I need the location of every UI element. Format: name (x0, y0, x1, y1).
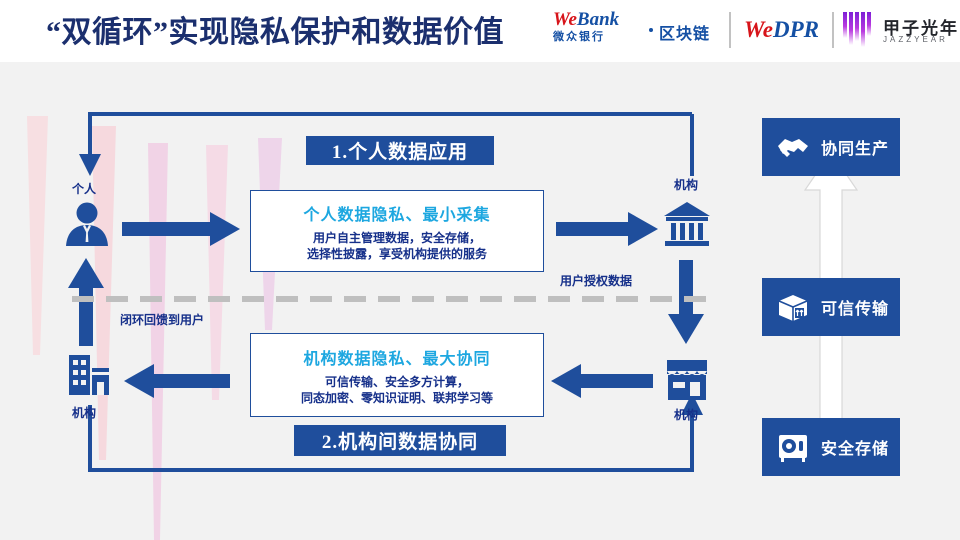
webank-bank-text: Bank (577, 9, 619, 30)
slide-header: “双循环”实现隐私保护和数据价值 WeBank 微众银行 区块链 WeDPR 甲… (0, 0, 960, 62)
banner-personal-data-application: 1.个人数据应用 (306, 136, 494, 165)
dot-separator-icon (649, 28, 653, 32)
jazzyear-en-text: JAZZYEAR (883, 35, 948, 44)
label-user-authorized-data: 用户授权数据 (560, 272, 632, 289)
right-card-label: 协同生产 (821, 135, 889, 159)
card-personal-line2: 选择性披露，享受机构提供的服务 (307, 246, 487, 262)
label-org-bank: 机构 (674, 176, 698, 193)
wedpr-logo: WeDPR (744, 18, 819, 42)
blockchain-label: 区块链 (659, 20, 710, 44)
arrow-shop-to-card (551, 364, 653, 398)
arrow-card-to-org (124, 364, 230, 398)
right-card-label: 可信传输 (821, 295, 889, 319)
webank-we-text: We (553, 9, 577, 30)
storefront-icon (663, 358, 711, 402)
card-personal-privacy: 个人数据隐私、最小采集 用户自主管理数据，安全存储， 选择性披露，享受机构提供的… (250, 190, 544, 272)
safe-icon (776, 430, 810, 464)
banner-inter-institution-collaboration: 2.机构间数据协同 (294, 425, 506, 456)
card-institution-line2: 同态加密、零知识证明、联邦学习等 (301, 390, 493, 406)
handshake-icon (776, 130, 810, 164)
card-institution-line1: 可信传输、安全多方计算， (325, 374, 469, 390)
right-card-collaborative-production[interactable]: 协同生产 (762, 118, 900, 176)
arrow-card-to-bank (556, 212, 658, 246)
jazzyear-bars-icon (843, 12, 877, 48)
card-institution-privacy: 机构数据隐私、最大协同 可信传输、安全多方计算， 同态加密、零知识证明、联邦学习… (250, 333, 544, 417)
package-icon (776, 290, 810, 324)
label-org-left: 机构 (72, 404, 96, 421)
jazzyear-logo: 甲子光年 JAZZYEAR (843, 10, 953, 52)
dashed-divider (72, 296, 712, 302)
person-icon (62, 201, 112, 249)
wedpr-we-text: We (744, 17, 773, 42)
page-title: “双循环”实现隐私保护和数据价值 (46, 7, 504, 51)
card-personal-line1: 用户自主管理数据，安全存储， (313, 230, 481, 246)
right-card-secure-storage[interactable]: 安全存储 (762, 418, 900, 476)
right-card-label: 安全存储 (821, 435, 889, 459)
arrow-org-to-person (68, 258, 104, 346)
webank-logo: WeBank 微众银行 (553, 10, 643, 50)
slide-canvas: 1.个人数据应用 2.机构间数据协同 个人数据隐私、最小采集 用户自主管理数据，… (0, 0, 960, 540)
label-person: 个人 (72, 180, 96, 197)
right-card-trusted-transmission[interactable]: 可信传输 (762, 278, 900, 336)
label-org-shop: 机构 (674, 406, 698, 423)
bank-institution-icon (662, 200, 712, 248)
header-divider-1 (729, 12, 731, 48)
office-building-icon (66, 352, 112, 398)
arrow-person-to-card (122, 212, 240, 246)
card-institution-title: 机构数据隐私、最大协同 (303, 345, 490, 369)
card-personal-title: 个人数据隐私、最小采集 (303, 201, 490, 225)
arrow-bank-to-shop (668, 260, 704, 344)
wedpr-dpr-text: DPR (773, 17, 819, 42)
arrowhead-down-person (79, 154, 101, 176)
label-closed-loop-feedback: 闭环回馈到用户 (120, 311, 204, 328)
header-divider-2 (832, 12, 834, 48)
webank-cn-text: 微众银行 (553, 31, 643, 44)
